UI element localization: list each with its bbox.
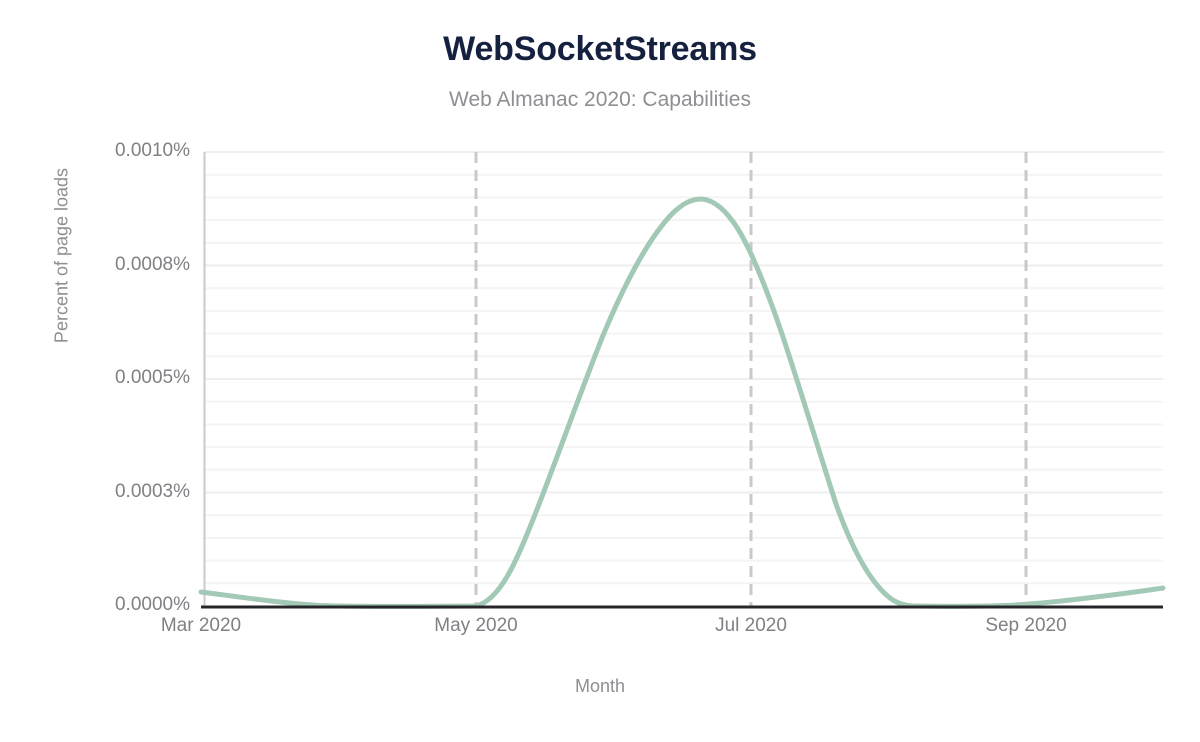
- y-tick-label-2: 0.0005%: [10, 367, 190, 389]
- data-line-websocketstreams: [201, 199, 1163, 607]
- x-tick-label-0: Mar 2020: [101, 615, 301, 637]
- x-tick-label-1: May 2020: [376, 615, 576, 637]
- x-tick-label-2: Jul 2020: [651, 615, 851, 637]
- x-tick-label-3: Sep 2020: [926, 615, 1126, 637]
- y-tick-label-1: 0.0008%: [10, 254, 190, 276]
- y-tick-label-4: 0.0000%: [10, 594, 190, 616]
- chart-container: WebSocketStreams Web Almanac 2020: Capab…: [0, 0, 1200, 742]
- y-tick-label-3: 0.0003%: [10, 481, 190, 503]
- y-tick-label-0: 0.0010%: [10, 140, 190, 162]
- horizontal-gridlines: [204, 152, 1163, 583]
